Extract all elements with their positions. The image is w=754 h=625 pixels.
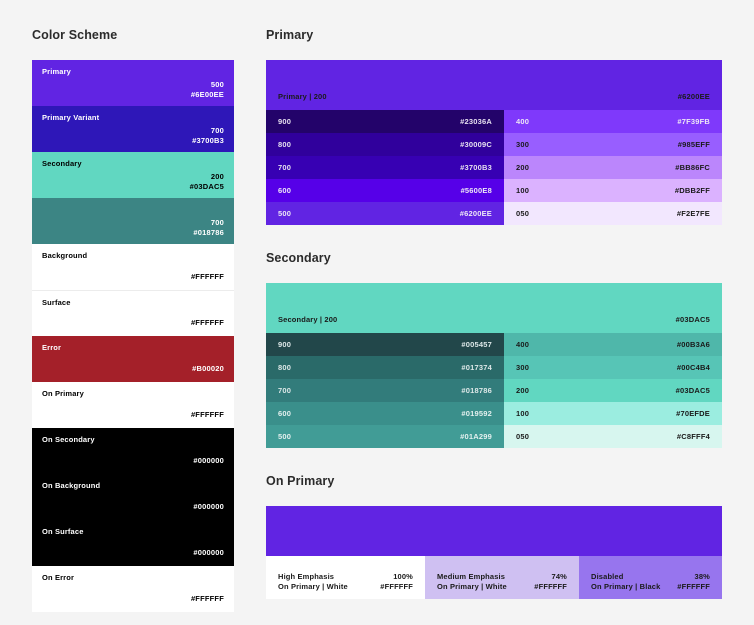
emphasis-secondary-line: On Primary | White#FFFFFF [278, 582, 413, 591]
primary-palette-block: Primary Primary | 200 #6200EE 900#23036A… [266, 28, 722, 225]
palette-tone-cell[interactable]: 900#005457 [266, 333, 504, 356]
tone-label: 900 [278, 333, 291, 356]
tone-label: 300 [516, 356, 529, 379]
tone-label: 500 [278, 425, 291, 448]
palette-tone-cell[interactable]: 500#01A299 [266, 425, 504, 448]
secondary-palette-heading: Secondary [266, 251, 722, 265]
swatch-tone: 700 [211, 126, 224, 135]
emphasis-label: Disabled [591, 572, 623, 581]
swatch-hex: #03DAC5 [190, 182, 224, 191]
swatch-hex: #FFFFFF [191, 594, 224, 603]
tone-hex: #019592 [461, 402, 492, 425]
on-primary-emphasis-row: High Emphasis100%On Primary | White#FFFF… [266, 556, 722, 599]
tone-hex: #5600E8 [461, 179, 492, 202]
tone-hex: #985EFF [678, 133, 710, 156]
swatch-hex: #FFFFFF [191, 410, 224, 419]
palette-tone-cell[interactable]: 700#3700B3 [266, 156, 504, 179]
swatch-hex: #018786 [193, 228, 224, 237]
tone-hex: #005457 [461, 333, 492, 356]
tone-hex: #03DAC5 [676, 379, 710, 402]
emphasis-secondary-line: On Primary | Black#FFFFFF [591, 582, 710, 591]
swatch-hex: #3700B3 [192, 136, 224, 145]
tone-hex: #DBB2FF [675, 179, 710, 202]
swatch-tone: 700 [211, 218, 224, 227]
tone-label: 200 [516, 156, 529, 179]
tone-label: 100 [516, 179, 529, 202]
color-scheme-swatch[interactable]: Secondary200#03DAC5 [32, 152, 234, 198]
tone-label: 500 [278, 202, 291, 225]
primary-palette-heading: Primary [266, 28, 722, 42]
swatch-hex: #000000 [193, 456, 224, 465]
emphasis-opacity: 100% [393, 572, 413, 581]
emphasis-cell[interactable]: Medium Emphasis74%On Primary | White#FFF… [425, 556, 579, 599]
tone-hex: #23036A [460, 110, 492, 133]
emphasis-sublabel: On Primary | White [278, 582, 348, 591]
primary-palette-header: Primary | 200 #6200EE [266, 60, 722, 110]
tone-label: 100 [516, 402, 529, 425]
emphasis-sublabel: On Primary | White [437, 582, 507, 591]
tone-hex: #F2E7FE [677, 202, 710, 225]
palette-tone-cell[interactable]: 400#00B3A6 [504, 333, 722, 356]
emphasis-label: Medium Emphasis [437, 572, 505, 581]
tone-hex: #01A299 [460, 425, 492, 448]
emphasis-hex: #FFFFFF [380, 582, 413, 591]
color-scheme-swatch[interactable]: Primary Variant700#3700B3 [32, 106, 234, 152]
tone-hex: #70EFDE [676, 402, 710, 425]
primary-palette-grid: 900#23036A400#7F39FB800#30009C300#985EFF… [266, 110, 722, 225]
tone-hex: #BB86FC [675, 156, 710, 179]
palette-tone-cell[interactable]: 050#F2E7FE [504, 202, 722, 225]
emphasis-primary-line: Disabled38% [591, 572, 710, 581]
tone-label: 050 [516, 425, 529, 448]
tone-label: 050 [516, 202, 529, 225]
swatch-name: Error [42, 343, 224, 353]
swatch-hex: #B00020 [192, 364, 224, 373]
tone-label: 200 [516, 379, 529, 402]
swatch-name: On Surface [42, 527, 224, 537]
emphasis-hex: #FFFFFF [677, 582, 710, 591]
palette-tone-cell[interactable]: 050#C8FFF4 [504, 425, 722, 448]
color-scheme-column: Color Scheme Primary500#6E00EEPrimary Va… [32, 28, 234, 612]
emphasis-secondary-line: On Primary | White#FFFFFF [437, 582, 567, 591]
on-primary-swatch [266, 506, 722, 556]
tone-label: 400 [516, 110, 529, 133]
emphasis-label: High Emphasis [278, 572, 334, 581]
tone-label: 700 [278, 379, 291, 402]
tone-hex: #C8FFF4 [677, 425, 710, 448]
swatch-hex: #000000 [193, 548, 224, 557]
tone-hex: #30009C [460, 133, 492, 156]
color-scheme-card: Primary500#6E00EEPrimary Variant700#3700… [32, 60, 234, 612]
swatch-name: Surface [42, 298, 224, 308]
swatch-tone: 500 [211, 80, 224, 89]
palette-tone-cell[interactable]: 500#6200EE [266, 202, 504, 225]
primary-palette-header-hex: #6200EE [678, 92, 710, 101]
tone-hex: #018786 [461, 379, 492, 402]
secondary-palette-header-hex: #03DAC5 [676, 315, 710, 324]
swatch-hex: #FFFFFF [191, 272, 224, 281]
emphasis-sublabel: On Primary | Black [591, 582, 660, 591]
palette-tone-cell[interactable]: 600#5600E8 [266, 179, 504, 202]
swatch-name: On Error [42, 573, 224, 583]
tone-label: 700 [278, 156, 291, 179]
palette-tone-cell[interactable]: 300#985EFF [504, 133, 722, 156]
color-scheme-swatch[interactable]: On Error#FFFFFF [32, 566, 234, 612]
tone-hex: #3700B3 [460, 156, 492, 179]
color-scheme-swatch[interactable]: On Secondary#000000 [32, 428, 234, 474]
palette-tone-cell[interactable]: 800#017374 [266, 356, 504, 379]
palette-tone-cell[interactable]: 200#BB86FC [504, 156, 722, 179]
emphasis-cell[interactable]: Disabled38%On Primary | Black#FFFFFF [579, 556, 722, 599]
tone-hex: #017374 [461, 356, 492, 379]
swatch-name: Primary [42, 67, 224, 77]
secondary-palette-block: Secondary Secondary | 200 #03DAC5 900#00… [266, 251, 722, 448]
swatch-name: Primary Variant [42, 113, 224, 123]
primary-palette-header-label: Primary | 200 [278, 92, 327, 101]
palette-tone-cell[interactable]: 900#23036A [266, 110, 504, 133]
secondary-palette-header: Secondary | 200 #03DAC5 [266, 283, 722, 333]
swatch-tone: 200 [211, 172, 224, 181]
swatch-name: Background [42, 251, 224, 261]
swatch-name: On Primary [42, 389, 224, 399]
color-scheme-heading: Color Scheme [32, 28, 234, 42]
on-primary-card: High Emphasis100%On Primary | White#FFFF… [266, 506, 722, 599]
swatch-name: Secondary [42, 159, 224, 169]
palettes-column: Primary Primary | 200 #6200EE 900#23036A… [266, 28, 722, 599]
tone-hex: #00B3A6 [677, 333, 710, 356]
color-scheme-swatch[interactable]: Surface#FFFFFF [32, 290, 234, 336]
emphasis-opacity: 38% [695, 572, 710, 581]
palette-tone-cell[interactable]: 200#03DAC5 [504, 379, 722, 402]
tone-label: 600 [278, 179, 291, 202]
color-scheme-swatch[interactable]: 700#018786 [32, 198, 234, 244]
color-scheme-swatch[interactable]: On Surface#000000 [32, 520, 234, 566]
color-scheme-swatch[interactable]: Primary500#6E00EE [32, 60, 234, 106]
tone-hex: #7F39FB [677, 110, 710, 133]
secondary-palette-grid: 900#005457400#00B3A6800#017374300#00C4B4… [266, 333, 722, 448]
color-scheme-swatch[interactable]: On Background#000000 [32, 474, 234, 520]
palette-tone-cell[interactable]: 100#70EFDE [504, 402, 722, 425]
emphasis-primary-line: Medium Emphasis74% [437, 572, 567, 581]
swatch-hex: #6E00EE [191, 90, 224, 99]
tone-label: 900 [278, 110, 291, 133]
palette-tone-cell[interactable]: 400#7F39FB [504, 110, 722, 133]
palette-tone-cell[interactable]: 800#30009C [266, 133, 504, 156]
primary-palette-card: Primary | 200 #6200EE 900#23036A400#7F39… [266, 60, 722, 225]
emphasis-cell[interactable]: High Emphasis100%On Primary | White#FFFF… [266, 556, 425, 599]
swatch-hex: #000000 [193, 502, 224, 511]
palette-tone-cell[interactable]: 600#019592 [266, 402, 504, 425]
swatch-name: On Background [42, 481, 224, 491]
emphasis-primary-line: High Emphasis100% [278, 572, 413, 581]
tone-label: 800 [278, 356, 291, 379]
secondary-palette-header-label: Secondary | 200 [278, 315, 337, 324]
on-primary-heading: On Primary [266, 474, 722, 488]
tone-label: 800 [278, 133, 291, 156]
palette-tone-cell[interactable]: 100#DBB2FF [504, 179, 722, 202]
emphasis-hex: #FFFFFF [534, 582, 567, 591]
color-scheme-swatch[interactable]: Background#FFFFFF [32, 244, 234, 290]
palette-tone-cell[interactable]: 700#018786 [266, 379, 504, 402]
tone-label: 300 [516, 133, 529, 156]
tone-label: 600 [278, 402, 291, 425]
on-primary-block: On Primary High Emphasis100%On Primary |… [266, 474, 722, 599]
tone-hex: #00C4B4 [677, 356, 710, 379]
palette-tone-cell[interactable]: 300#00C4B4 [504, 356, 722, 379]
emphasis-opacity: 74% [552, 572, 567, 581]
secondary-palette-card: Secondary | 200 #03DAC5 900#005457400#00… [266, 283, 722, 448]
color-scheme-swatch[interactable]: On Primary#FFFFFF [32, 382, 234, 428]
color-scheme-swatch[interactable]: Error#B00020 [32, 336, 234, 382]
swatch-hex: #FFFFFF [191, 318, 224, 327]
tone-label: 400 [516, 333, 529, 356]
color-scheme-page: Color Scheme Primary500#6E00EEPrimary Va… [0, 0, 754, 625]
tone-hex: #6200EE [460, 202, 492, 225]
swatch-name: On Secondary [42, 435, 224, 445]
